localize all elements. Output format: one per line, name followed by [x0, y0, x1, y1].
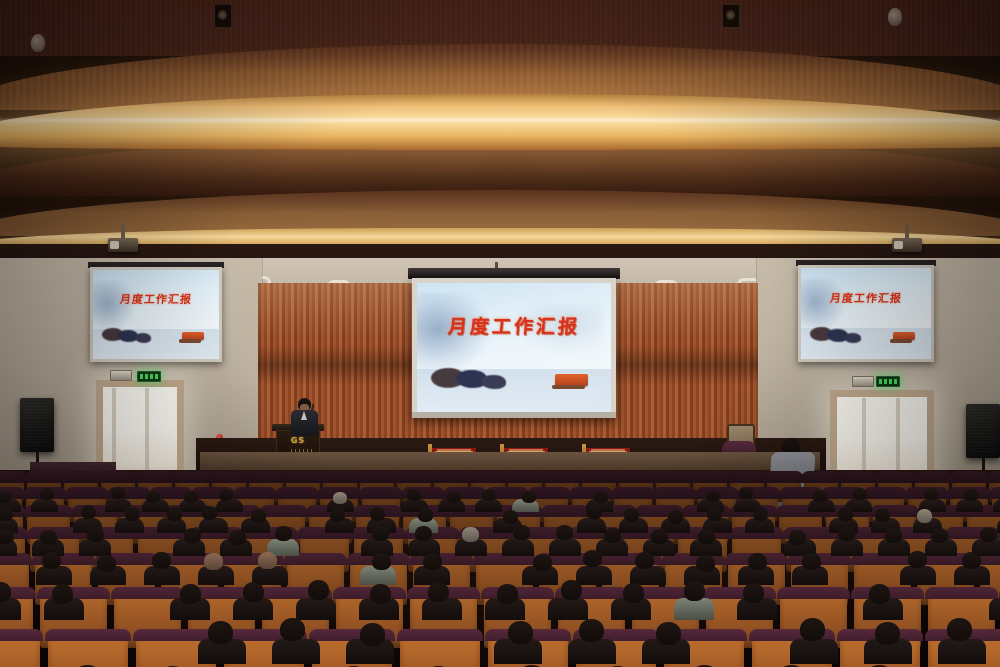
seated-attendee-head: [508, 621, 533, 644]
ceiling-downlight-icon: [722, 4, 740, 28]
screen-surface-frame: 月度工作汇报: [412, 278, 616, 418]
emergency-light-right: [852, 376, 874, 387]
seated-attendee-head: [885, 528, 902, 543]
seated-attendee-head: [656, 622, 681, 645]
seated-attendee-head: [219, 489, 233, 501]
seated-attendee-shoulders: [31, 499, 58, 512]
seated-attendee-head: [97, 555, 116, 572]
seated-attendee-shoulders: [576, 566, 612, 585]
screen-surface-frame: 月度工作汇报: [798, 265, 934, 362]
exit-sign-left: [137, 371, 161, 382]
seated-attendee-head: [853, 488, 867, 500]
screen-surface-frame: 月度工作汇报: [90, 267, 222, 362]
seated-attendee-shoulders: [674, 598, 714, 620]
ceiling-speaker-icon: [31, 34, 45, 52]
main-projection-screen: 月度工作汇报: [408, 268, 620, 428]
seated-attendee-shoulders: [199, 518, 228, 533]
seated-attendee-head: [947, 618, 972, 641]
right-projection-screen: 月度工作汇报: [796, 260, 936, 362]
seated-attendee-head: [423, 553, 442, 570]
seated-attendee-head: [739, 487, 753, 499]
pa-speaker-right: [966, 404, 1000, 458]
slide-title-text: 月度工作汇报: [417, 312, 611, 339]
seated-attendee-shoulders: [548, 598, 588, 620]
seated-attendee-head: [964, 489, 978, 501]
seated-attendee-shoulders: [900, 566, 936, 585]
seated-attendee-head: [789, 530, 806, 545]
slide-truck-icon: [555, 374, 588, 386]
seated-attendee-head: [275, 526, 292, 541]
slide-right: 月度工作汇报: [801, 268, 931, 359]
seated-attendee-head: [980, 527, 997, 542]
seated-attendee-head: [146, 491, 160, 503]
seated-attendee-head: [258, 552, 277, 569]
presenter-person: [288, 398, 320, 438]
seated-attendee-head: [908, 551, 927, 568]
seated-attendee-head: [594, 491, 608, 503]
seated-attendee-head: [52, 584, 73, 604]
seated-attendee-head: [635, 552, 654, 569]
seated-attendee-head: [87, 527, 104, 542]
seated-attendee-head: [308, 580, 329, 600]
seated-attendee-head: [587, 505, 602, 519]
seated-attendee-head: [81, 505, 96, 519]
seated-attendee-head: [962, 552, 981, 569]
seated-attendee-head: [428, 582, 449, 602]
seated-attendee-head: [802, 553, 821, 570]
seated-attendee-head: [372, 553, 391, 570]
seated-attendee-head: [604, 528, 621, 543]
seated-attendee-head: [243, 582, 264, 602]
seated-attendee-shoulders: [831, 539, 863, 556]
auditorium-photo: 月度工作汇报 月度工作汇报: [0, 0, 1000, 667]
seated-attendee-head: [280, 618, 305, 641]
seated-attendee-head: [0, 529, 14, 544]
seated-attendee-head: [800, 618, 825, 641]
seated-attendee-head: [42, 552, 61, 569]
seated-attendee-head: [462, 527, 479, 542]
ceiling-projector-right: [892, 238, 922, 252]
auditorium-seat[interactable]: [0, 634, 40, 667]
seated-attendee-head: [706, 490, 720, 502]
seated-attendee-head: [931, 528, 948, 543]
seated-attendee-head: [370, 584, 391, 604]
seated-attendee-head: [40, 488, 54, 500]
seated-attendee-head: [503, 510, 518, 524]
slide-title-text: 月度工作汇报: [801, 290, 931, 306]
seated-attendee-shoulders: [296, 598, 336, 620]
seated-attendee-head: [522, 491, 536, 503]
seated-attendee-head: [167, 507, 182, 521]
slide-truck-icon: [182, 332, 203, 340]
seated-attendee-head: [204, 553, 223, 570]
cove-light-highlight: [0, 118, 1000, 122]
pa-speaker-left: [20, 398, 54, 452]
seated-attendee-head: [0, 507, 13, 521]
slide-horse-icon: [844, 332, 861, 343]
seated-attendee-head: [623, 583, 644, 603]
seated-attendee-head: [668, 510, 683, 524]
seated-attendee-head: [869, 584, 890, 604]
seated-attendee-head: [513, 525, 530, 540]
slide-main: 月度工作汇报: [417, 283, 611, 413]
seated-attendee-head: [753, 507, 768, 521]
seated-attendee-shoulders: [272, 639, 320, 664]
seated-attendee-head: [743, 583, 764, 603]
seated-attendee-head: [875, 622, 900, 645]
seated-attendee-head: [707, 507, 722, 521]
seated-attendee-head: [579, 619, 604, 642]
ceiling-downlight-icon: [214, 4, 232, 28]
seated-attendee-head: [125, 507, 140, 521]
seated-attendee-head: [556, 525, 573, 540]
seated-attendee-head: [180, 584, 201, 604]
seated-attendee-head: [184, 528, 201, 543]
seated-attendee-head: [813, 490, 827, 502]
exit-sign-right: [876, 376, 900, 387]
slide-title-text: 月度工作汇报: [93, 291, 219, 307]
seated-attendee-head: [533, 554, 552, 571]
stage-floor: [200, 452, 820, 470]
seated-attendee-head: [202, 506, 217, 520]
seated-attendee-head: [418, 508, 433, 522]
seated-attendee-head: [330, 508, 345, 522]
seated-attendee-head: [184, 491, 198, 503]
auditorium-seat[interactable]: [400, 634, 480, 667]
seated-attendee-shoulders: [577, 518, 606, 533]
seated-attendee-head: [838, 507, 853, 521]
seated-attendee-head: [698, 529, 715, 544]
ceiling-speaker-icon: [888, 8, 902, 26]
seated-attendee-head: [407, 489, 421, 501]
seated-attendee-head: [0, 491, 11, 503]
seated-attendee-shoulders: [568, 639, 616, 664]
seated-attendee-head: [482, 489, 496, 501]
seated-attendee-head: [684, 581, 705, 601]
seated-attendee-head: [415, 526, 432, 541]
slide-truck-icon: [893, 332, 915, 340]
left-projection-screen: 月度工作汇报: [88, 262, 224, 362]
auditorium-seat[interactable]: [48, 634, 128, 667]
seated-attendee-head: [497, 584, 518, 604]
seated-attendee-head: [360, 623, 385, 646]
seated-attendee-head: [583, 550, 602, 567]
seated-attendee-shoulders: [502, 539, 534, 556]
seated-attendee-shoulders: [549, 539, 581, 556]
seated-attendee-head: [924, 488, 938, 500]
seated-attendee-head: [208, 621, 233, 644]
seated-attendee-head: [561, 580, 582, 600]
seated-attendee-head: [624, 508, 639, 522]
ceiling-projector-left: [108, 238, 138, 252]
seated-attendee-head: [748, 553, 767, 570]
screen-weight-bar: [412, 412, 616, 418]
seated-attendee-shoulders: [790, 639, 838, 664]
seated-attendee-head: [111, 487, 125, 499]
seated-attendee-shoulders: [989, 598, 1000, 620]
seated-attendee-head: [875, 508, 890, 522]
emergency-light-left: [110, 370, 132, 381]
seated-attendee-head: [251, 509, 266, 523]
seated-attendee-shoulders: [216, 499, 243, 512]
seated-attendee-head: [838, 526, 855, 541]
seated-attendee-head: [370, 507, 385, 521]
seated-attendee-head: [229, 530, 246, 545]
seated-attendee-head: [152, 552, 171, 569]
seated-attendee-head: [917, 509, 932, 523]
slide-left: 月度工作汇报: [93, 270, 219, 359]
seated-attendee-shoulders: [938, 639, 986, 664]
seated-attendee-head: [651, 529, 668, 544]
seated-attendee-head: [696, 555, 715, 572]
seated-attendee-head: [40, 530, 57, 545]
seated-attendee-head: [447, 491, 461, 503]
seated-attendee-head: [372, 526, 389, 541]
seated-attendee-head: [333, 492, 347, 504]
